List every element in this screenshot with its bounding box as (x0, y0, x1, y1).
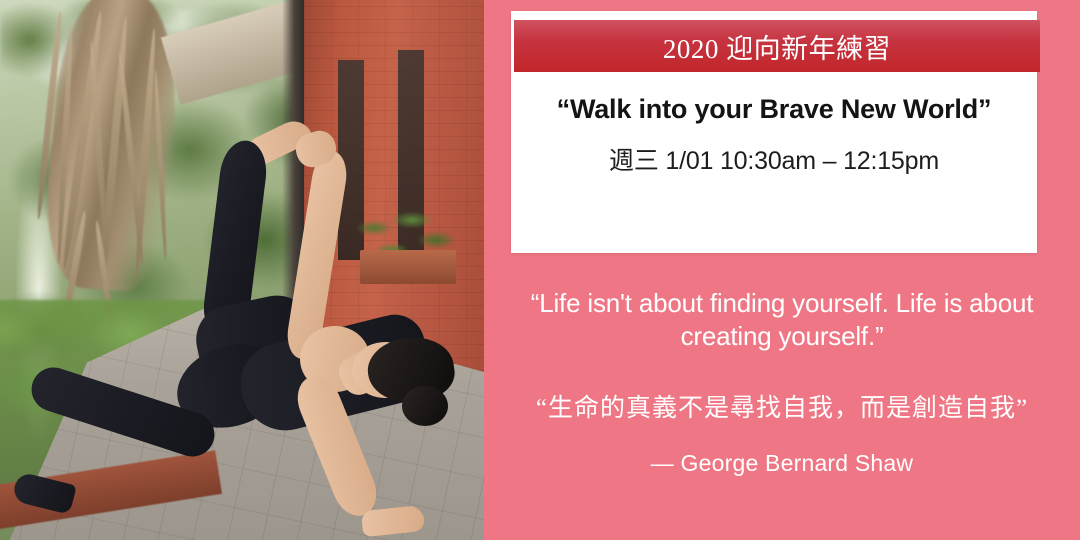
quote-attribution: — George Bernard Shaw (498, 450, 1066, 477)
event-card-body: “Walk into your Brave New World” 週三 1/01… (511, 72, 1037, 253)
figure-bottom-foot (11, 471, 76, 515)
course-title: “Walk into your Brave New World” (557, 94, 992, 125)
quote-english: “Life isn't about finding yourself. Life… (498, 287, 1066, 352)
yoga-photo (0, 0, 484, 540)
poster: “Walk into your Brave New World” 週三 1/01… (0, 0, 1080, 540)
figure-support-hand (361, 505, 425, 537)
photo-yoga-figure (0, 0, 484, 540)
quote-chinese: “生命的真義不是尋找自我，而是創造自我” (498, 388, 1066, 424)
course-schedule: 週三 1/01 10:30am – 12:15pm (609, 141, 939, 177)
figure-hair-bun (402, 386, 448, 426)
event-card-banner: 2020 迎向新年練習 (514, 20, 1040, 72)
content-panel: “Walk into your Brave New World” 週三 1/01… (484, 0, 1080, 540)
banner-title: 2020 迎向新年練習 (663, 27, 891, 66)
